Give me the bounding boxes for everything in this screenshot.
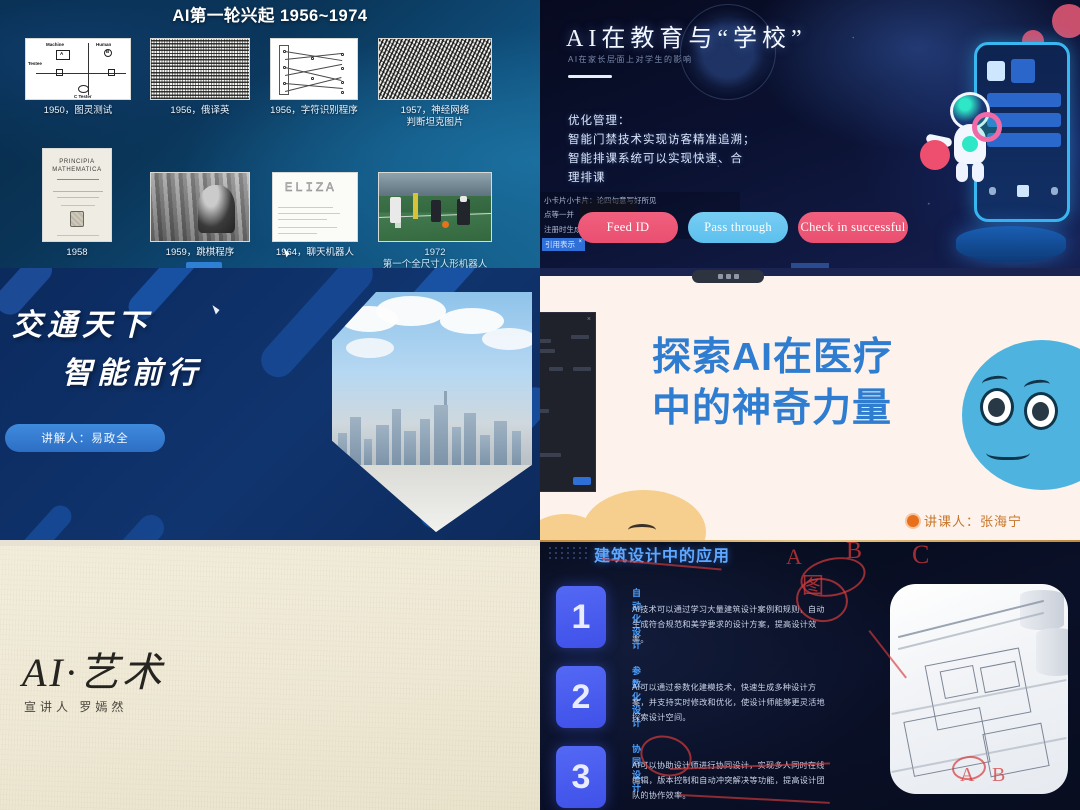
history-item-caption: 1959，跳棋程序 [150, 247, 250, 259]
history-item-tank: 1957，神经网络 判断坦克图片 [378, 38, 492, 129]
check-in-successful-button[interactable]: Check in successful [798, 212, 908, 243]
principia-mathematica-cover: PRINCIPIA MATHEMATICA [42, 148, 112, 242]
history-item-translation: 1956，俄译英 [150, 38, 250, 117]
pass-through-button[interactable]: Pass through [688, 212, 788, 243]
traffic-title-line2: 智能前行 [62, 348, 202, 392]
history-item-caption: 1956，俄译英 [150, 105, 250, 117]
history-item-checkers: 1959，跳棋程序 [150, 172, 250, 259]
medical-presenter: 讲课人：张海宁 [907, 511, 1022, 530]
panel-ai-history[interactable]: AI第一轮兴起 1956~1974 Machine Human Testee A… [0, 0, 540, 268]
russian-to-english-page [150, 38, 250, 100]
character-recognition-network [270, 38, 358, 100]
close-icon[interactable]: × [587, 316, 591, 323]
video-wall-grid: AI第一轮兴起 1956~1974 Machine Human Testee A… [0, 0, 1080, 810]
ai-education-body: 优化管理： 智能门禁技术实现访客精准追溯； 智能排课系统可以实现快速、合 理排课 [568, 112, 756, 188]
panel-ai-art[interactable]: AI·艺术 宣讲人 罗嫣然 [0, 540, 540, 810]
title-underline [568, 75, 612, 78]
ink-annotation-c: C [912, 540, 929, 570]
panel-ai-education[interactable]: AI在教育与“学校” AI在家长层面上对学生的影响 优化管理： 智能门禁技术实现… [540, 0, 1080, 268]
floating-toolbar[interactable] [692, 270, 764, 283]
history-item-eliza: ELIZA 1964，聊天机器人 [272, 172, 358, 259]
mouse-cursor-icon [212, 303, 220, 314]
ai-education-title: AI在教育与“学校” [566, 18, 807, 53]
history-item-caption: 1972 第一个全尺寸人形机器人 [378, 247, 492, 268]
eliza-title-text: ELIZA [285, 180, 337, 195]
history-item-ocr: 1956，字符识别程序 [270, 38, 358, 117]
medical-presenter-label: 讲课人：张海宁 [924, 511, 1022, 530]
book-title-line2: MATHEMATICA [43, 167, 111, 173]
panel-architecture[interactable]: 建筑设计中的应用 1 自动化设计 AI技术可以通过学习大量建筑设计案例和规则，自… [540, 540, 1080, 810]
item-number-badge: 2 [556, 666, 606, 728]
history-item-caption: 1957，神经网络 判断坦克图片 [378, 105, 492, 129]
ink-annotation-a: A [786, 544, 802, 570]
ai-art-presenter: 宣讲人 罗嫣然 [24, 698, 127, 715]
traffic-presenter-badge: 讲解人：易政全 [5, 424, 165, 452]
toolbar-dot-icon [734, 274, 739, 279]
astronaut-mascot-illustration [942, 92, 1000, 184]
book-title-line1: PRINCIPIA [43, 159, 111, 165]
history-item-principia: PRINCIPIA MATHEMATICA 1958 [42, 148, 112, 259]
history-item-turing: Machine Human Testee A B C Tester 1950，图… [25, 38, 131, 117]
item-text: AI可以通过参数化建模技术，快速生成多种设计方案，并支持实时修改和优化，使设计师… [632, 680, 828, 726]
toolbar-dot-icon [726, 274, 731, 279]
highlight-chip[interactable]: 引用表示 × [542, 238, 585, 251]
item-number-badge: 1 [556, 586, 606, 648]
blue-mascot-illustration [962, 340, 1080, 490]
dot-grid-decoration [548, 546, 588, 560]
tank-photo-neural-net [378, 38, 492, 100]
humanoid-robots-soccer [378, 172, 492, 242]
top-strip [0, 540, 540, 546]
toolbar-dot-icon [718, 274, 723, 279]
podium-illustration [956, 226, 1066, 262]
cloud-smile-icon [628, 524, 656, 536]
dark-dialog-popup[interactable]: × [540, 312, 596, 492]
sun-icon [907, 515, 919, 527]
medical-title: 探索AI在医疗 中的神奇力量 [652, 332, 893, 435]
feed-id-button[interactable]: Feed ID [578, 212, 678, 243]
city-skyline-photo [332, 292, 532, 532]
close-icon[interactable]: × [578, 239, 582, 245]
traffic-title-line1: 交通天下 [12, 300, 152, 344]
top-bar [540, 268, 1080, 276]
eliza-transcript: ELIZA [272, 172, 358, 242]
panel-medical[interactable]: × 探索AI在医疗 中的神奇力量 讲课人：张海宁 [540, 268, 1080, 540]
history-item-caption: 1950，图灵测试 [25, 105, 131, 117]
ai-history-title: AI第一轮兴起 1956~1974 [0, 2, 540, 26]
panel-traffic[interactable]: 交通天下 智能前行 讲解人：易政全 [0, 268, 540, 540]
history-item-caption: 1956，字符识别程序 [270, 105, 358, 117]
ai-art-title: AI·艺术 [22, 640, 165, 698]
history-item-caption: 1958 [42, 247, 112, 259]
item-number-badge: 3 [556, 746, 606, 808]
dialog-confirm-button[interactable] [573, 477, 591, 485]
checkers-program-photo [150, 172, 250, 242]
ai-education-subtitle: AI在家长层面上对学生的影响 [568, 54, 693, 65]
history-item-robots: 1972 第一个全尺寸人形机器人 [378, 172, 492, 268]
turing-test-diagram: Machine Human Testee A B C Tester [25, 38, 131, 100]
highlight-chip-label: 引用表示 [545, 240, 575, 249]
red-circle-decoration [1052, 4, 1080, 38]
